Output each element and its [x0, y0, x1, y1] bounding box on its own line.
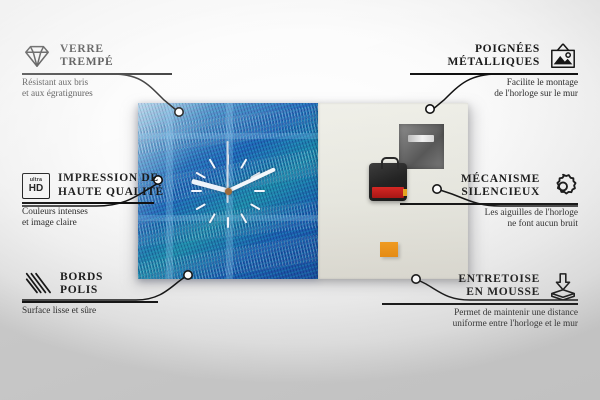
- callout-mecanisme-silencieux: MÉCANISME SILENCIEUX Les aiguilles de l'…: [368, 172, 578, 231]
- diamond-icon: [22, 42, 52, 70]
- callout-rule: [22, 202, 154, 204]
- hanging-frame-icon: [548, 42, 578, 70]
- callout-bords-polis: BORDS POLIS Surface lisse et sûre: [22, 270, 202, 317]
- callout-title: SILENCIEUX: [461, 186, 540, 200]
- callout-title: ENTRETOISE: [458, 273, 540, 287]
- callout-title: POLIS: [60, 284, 103, 298]
- callout-title: HAUTE QUALITÉ: [58, 186, 164, 200]
- foam-spacer-icon: [548, 272, 578, 300]
- callout-verre-trempe: VERRE TREMPÉ Résistant aux bris et aux é…: [22, 42, 202, 101]
- callout-title: VERRE: [60, 43, 113, 57]
- ultra-hd-bottom: HD: [29, 184, 43, 194]
- callout-subtitle: Couleurs intenses: [22, 207, 212, 219]
- ultra-hd-icon: ultra HD: [22, 173, 50, 199]
- grid-line: [138, 133, 318, 139]
- foam-spacer: [380, 242, 398, 257]
- callout-title: EN MOUSSE: [458, 286, 540, 300]
- callout-rule: [382, 303, 578, 305]
- callout-poignees-metalliques: POIGNÉES MÉTALLIQUES Facilite le montage…: [378, 42, 578, 101]
- infographic-stage: VERRE TREMPÉ Résistant aux bris et aux é…: [0, 0, 600, 400]
- gear-icon: [548, 172, 578, 200]
- callout-title: MÉCANISME: [461, 173, 540, 187]
- callout-title: MÉTALLIQUES: [448, 56, 540, 70]
- callout-impression-haute-qualite: ultra HD IMPRESSION DE HAUTE QUALITÉ Cou…: [22, 172, 212, 230]
- callout-subtitle: et aux égratignures: [22, 89, 202, 101]
- callout-rule: [22, 73, 172, 75]
- callout-subtitle: Surface lisse et sûre: [22, 306, 202, 318]
- callout-subtitle: uniforme entre l'horloge et le mur: [363, 319, 578, 331]
- ultra-hd-top: ultra: [30, 178, 42, 183]
- polished-edges-icon: [22, 270, 52, 298]
- callout-subtitle: et image claire: [22, 218, 212, 230]
- callout-subtitle: ne font aucun bruit: [368, 219, 578, 231]
- callout-subtitle: Résistant aux bris: [22, 78, 202, 90]
- callout-rule: [410, 73, 578, 75]
- callout-subtitle: de l'horloge sur le mur: [378, 89, 578, 101]
- callout-rule: [400, 203, 578, 205]
- callout-title: POIGNÉES: [448, 43, 540, 57]
- callout-title: IMPRESSION DE: [58, 172, 164, 186]
- callout-rule: [22, 301, 158, 303]
- callout-title: BORDS: [60, 271, 103, 285]
- hands-cap: [225, 188, 232, 195]
- callout-subtitle: Permet de maintenir une distance: [363, 308, 578, 320]
- callout-entretoise-en-mousse: ENTRETOISE EN MOUSSE Permet de maintenir…: [363, 272, 578, 331]
- metal-hanger-icon: [399, 124, 444, 169]
- callout-subtitle: Facilite le montage: [378, 78, 578, 90]
- callout-title: TREMPÉ: [60, 56, 113, 70]
- callout-subtitle: Les aiguilles de l'horloge: [368, 208, 578, 220]
